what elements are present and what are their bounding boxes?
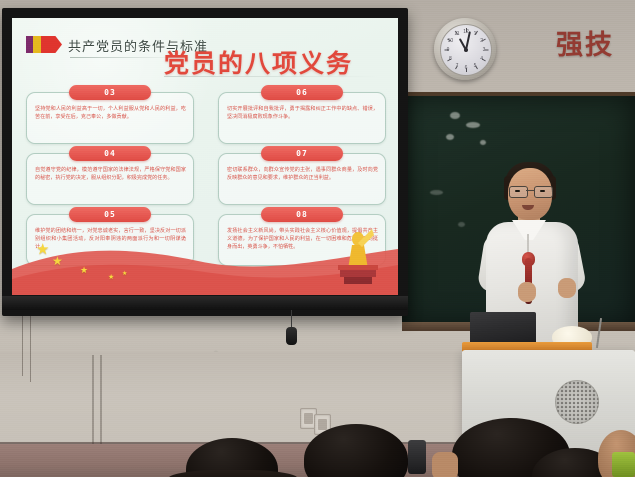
slide-title: 党员的八项义务 <box>164 44 353 80</box>
card-number-pill: 06 <box>261 85 343 100</box>
title-underline <box>164 76 379 77</box>
card-body-text: 密切联系群众，向群众宣传党的主张，遇事同群众商量，及时向党反映群众的意见和要求，… <box>227 167 378 183</box>
audience-arm <box>432 452 458 477</box>
decorative-star-icon: ★ <box>122 271 127 277</box>
screen-pull-weight[interactable] <box>286 327 297 345</box>
card-number: 04 <box>104 149 116 158</box>
card-number-pill: 04 <box>69 146 151 161</box>
clock-hub <box>464 48 468 52</box>
green-bag <box>612 452 635 477</box>
card-number: 07 <box>296 149 308 158</box>
card-number-pill: 03 <box>69 85 151 100</box>
card-number-pill: 07 <box>261 146 343 161</box>
presentation-slide: 共产党员的条件与标准 党员的八项义务 03坚持党和人民的利益高于一切，个人利益服… <box>12 18 398 295</box>
lecturer-hand-fist <box>558 278 576 298</box>
audience-shoulder <box>168 470 298 477</box>
laptop-on-podium <box>470 312 536 344</box>
slide-card-06: 06切实开展批评和自我批评，勇于揭露和纠正工作中的缺点、错误，坚决同消极腐败现象… <box>218 92 386 144</box>
card-body-text: 自觉遵守党的纪律，模范遵守国家的法律法规，严格保守党和国家的秘密，执行党的决定，… <box>35 167 186 183</box>
clock-numeral: 2 <box>480 38 483 44</box>
glasses-icon <box>509 186 551 196</box>
kicker-underline <box>70 57 175 58</box>
clock-face: 121234567891011 <box>440 24 492 76</box>
clock-numeral: 4 <box>480 56 483 62</box>
card-body-text: 坚持党和人民的利益高于一切，个人利益服从党和人民的利益，吃苦在前，享受在后，克己… <box>35 106 186 122</box>
card-number-pill: 08 <box>261 207 343 222</box>
wall-clock: 121234567891011 <box>434 18 496 80</box>
decorative-star-icon: ★ <box>108 274 114 281</box>
clock-numeral: 8 <box>449 56 452 62</box>
slide-card-03: 03坚持党和人民的利益高于一切，个人利益服从党和人民的利益，吃苦在前，享受在后，… <box>26 92 194 144</box>
decorative-star-icon: ★ <box>52 255 63 267</box>
clock-numeral: 3 <box>483 47 486 53</box>
screen-cord <box>22 316 23 376</box>
decorative-star-icon: ★ <box>36 242 49 257</box>
card-number: 03 <box>104 88 116 97</box>
clock-numeral: 5 <box>474 63 477 69</box>
card-number: 05 <box>104 210 116 219</box>
screen-pull-cord <box>291 310 292 328</box>
slide-card-07: 07密切联系群众，向群众宣传党的主张，遇事同群众商量，及时向党反映群众的意见和要… <box>218 153 386 205</box>
screen-cord <box>30 316 31 382</box>
slide-podium-illustration <box>328 225 386 287</box>
water-bottle <box>408 440 426 474</box>
slide-card-04: 04自觉遵守党的纪律，模范遵守国家的法律法规，严格保守党和国家的秘密，执行党的决… <box>26 153 194 205</box>
lecturer-hand-holding-mic <box>518 282 536 302</box>
banner-text: 强技 <box>556 23 614 62</box>
projection-screen-frame: 共产党员的条件与标准 党员的八项义务 03坚持党和人民的利益高于一切，个人利益服… <box>2 8 408 316</box>
classroom-photo: 121234567891011 强技 共产党员的条件与标准 党员的八项义务 03… <box>0 0 635 477</box>
decorative-star-icon: ★ <box>80 266 88 275</box>
podium-speaker-grille <box>555 380 599 424</box>
clock-numeral: 7 <box>456 63 459 69</box>
card-body-text: 切实开展批评和自我批评，勇于揭露和纠正工作中的缺点、错误，坚决同消极腐败现象作斗… <box>227 106 378 122</box>
card-number-pill: 05 <box>69 207 151 222</box>
clock-numeral: 6 <box>465 65 468 71</box>
slide-flag-icon <box>26 36 62 53</box>
clock-numeral: 11 <box>454 31 459 37</box>
card-number: 06 <box>296 88 308 97</box>
wall-banner: 强技 <box>540 20 630 64</box>
projection-screen: 共产党员的条件与标准 党员的八项义务 03坚持党和人民的利益高于一切，个人利益服… <box>12 18 398 295</box>
card-number: 08 <box>296 210 308 219</box>
clock-numeral: 10 <box>448 38 454 44</box>
screen-bottom-bar <box>2 296 408 310</box>
clock-numeral: 1 <box>474 31 477 37</box>
clock-numeral: 9 <box>447 47 450 53</box>
